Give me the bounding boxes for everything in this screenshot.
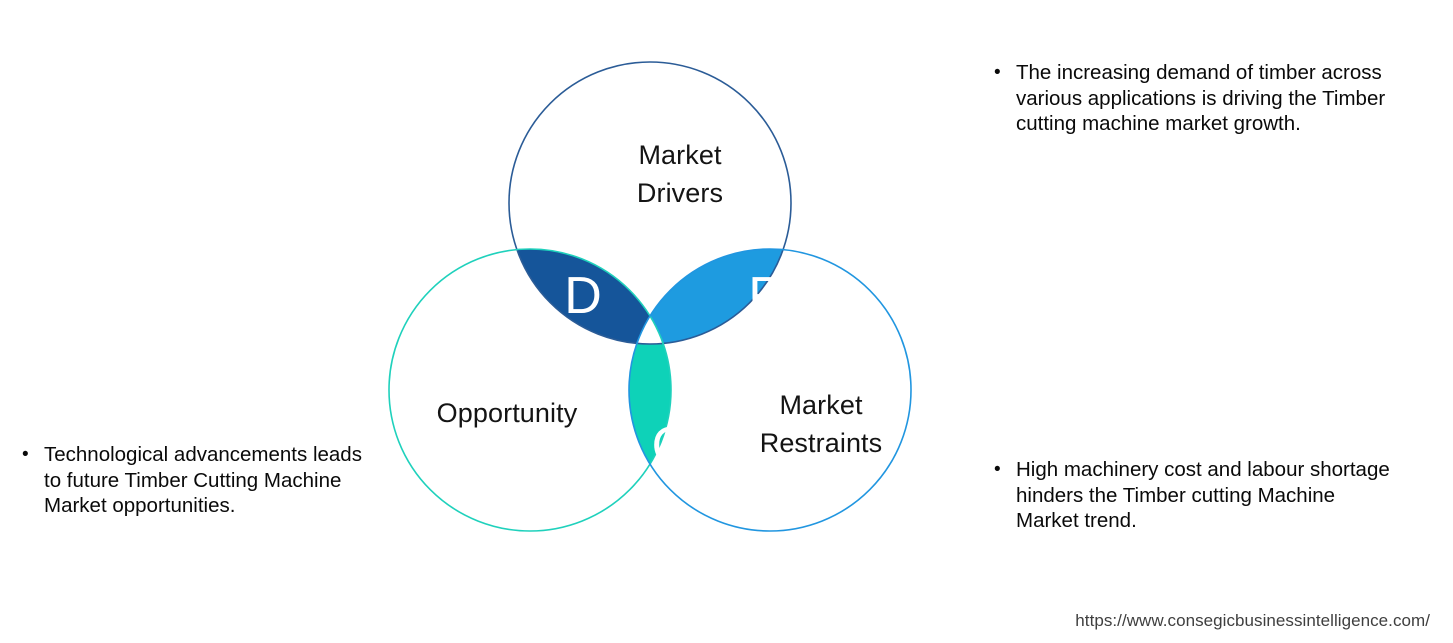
callout-market-restraints-text: High machinery cost and labour shortage … — [1016, 457, 1394, 534]
callout-opportunity-text: Technological advancements leads to futu… — [44, 442, 382, 519]
venn-label-drivers-line1: Market — [638, 140, 722, 170]
callout-market-restraints: • High machinery cost and labour shortag… — [994, 457, 1394, 534]
venn-diagram-svg: Market Drivers Opportunity Market Restra… — [360, 40, 980, 590]
venn-diagram: Market Drivers Opportunity Market Restra… — [360, 40, 980, 590]
venn-label-restraints-line2: Restraints — [760, 428, 883, 458]
source-url[interactable]: https://www.consegicbusinessintelligence… — [1075, 610, 1430, 631]
callout-market-drivers: • The increasing demand of timber across… — [994, 60, 1424, 137]
bullet-icon: • — [994, 457, 1016, 483]
venn-label-drivers-line2: Drivers — [637, 178, 723, 208]
bullet-icon: • — [994, 60, 1016, 86]
callout-opportunity: • Technological advancements leads to fu… — [22, 442, 382, 519]
venn-lens-letter-r: R — [748, 267, 786, 325]
venn-label-restraints-line1: Market — [779, 390, 863, 420]
venn-label-opportunity: Opportunity — [437, 398, 578, 428]
venn-lens-letter-o: O — [652, 417, 692, 475]
callout-market-drivers-text: The increasing demand of timber across v… — [1016, 60, 1424, 137]
slide-canvas: Market Drivers Opportunity Market Restra… — [0, 0, 1453, 643]
bullet-icon: • — [22, 442, 44, 468]
venn-lens-letter-d: D — [564, 267, 602, 325]
